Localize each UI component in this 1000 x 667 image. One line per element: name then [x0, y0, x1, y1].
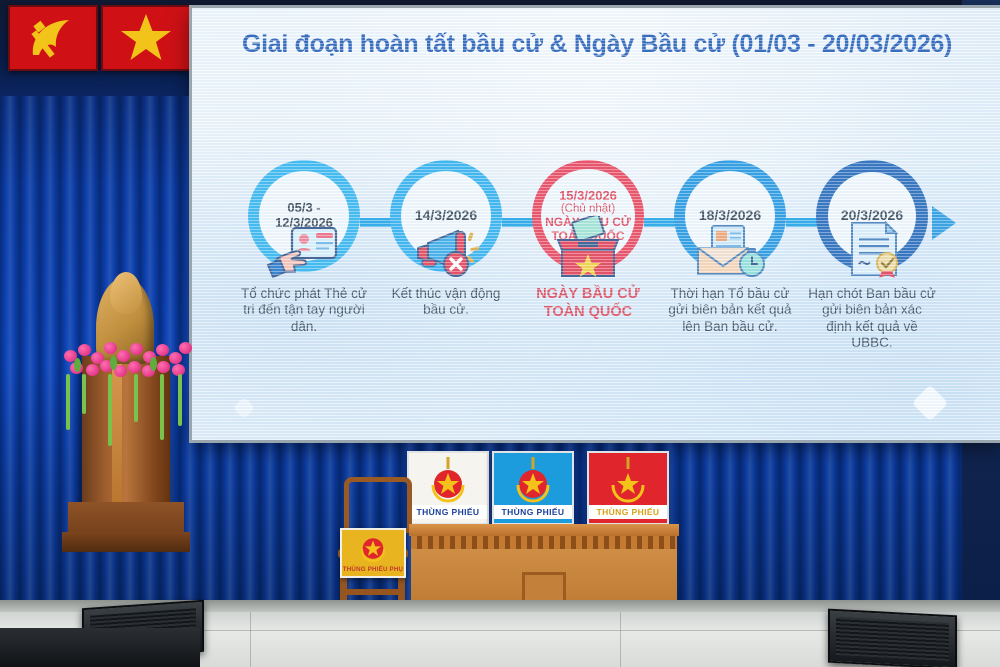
step-caption-5: Hạn chót Ban bầu cử gửi biên bản xác địn… — [808, 286, 936, 352]
bust-head — [110, 272, 142, 314]
speaker-grill — [836, 617, 949, 661]
timeline: 05/3 - 12/3/2026 14/3/2026 15/3/2026 (Ch… — [192, 86, 1000, 206]
yellow-star-icon — [119, 12, 173, 64]
national-emblem-icon — [608, 467, 648, 505]
step-caption-2: Kết thúc vận động bầu cử. — [382, 286, 510, 319]
communist-party-flag — [8, 5, 98, 71]
table-dentil-trim — [411, 536, 677, 549]
certificate-seal-icon — [808, 216, 936, 278]
step-caption-3: NGÀY BẦU CỬ TOÀN QUỐC — [524, 286, 652, 321]
flower-arrangement — [60, 336, 192, 380]
slide-title: Giai đoạn hoàn tất bầu cử & Ngày Bầu cử … — [192, 30, 1000, 59]
step-column-2: Kết thúc vận động bầu cử. — [382, 216, 510, 319]
national-emblem-icon — [358, 536, 388, 564]
envelope-stopwatch-icon — [666, 216, 794, 278]
step-column-4: Thời hạn Tổ bầu cử gửi biên bản kết quả … — [666, 216, 794, 335]
ballot-box-white[interactable]: THÙNG PHIẾU — [407, 451, 489, 525]
ballot-box-label-3: THÙNG PHIẾU — [589, 505, 667, 519]
national-emblem-icon — [513, 467, 553, 505]
podium-base-bottom — [62, 532, 190, 552]
photo-scene: Giai đoạn hoàn tất bầu cử & Ngày Bầu cử … — [0, 0, 1000, 667]
ballot-box-icon — [524, 216, 652, 278]
id-card-in-hand-icon — [240, 216, 368, 278]
foreground-dark-surface — [0, 628, 200, 667]
ballot-box-red[interactable]: THÙNG PHIẾU — [587, 451, 669, 525]
step-caption-1: Tổ chức phát Thẻ cử tri đến tận tay ngườ… — [240, 286, 368, 335]
right-stage-speaker — [828, 609, 957, 667]
ballot-box-label-2: THÙNG PHIẾU — [494, 505, 572, 519]
national-emblem-icon — [428, 467, 468, 505]
step-caption-4: Thời hạn Tổ bầu cử gửi biên bản kết quả … — [666, 286, 794, 335]
projection-screen: Giai đoạn hoàn tất bầu cử & Ngày Bầu cử … — [192, 8, 1000, 440]
megaphone-blocked-icon — [382, 216, 510, 278]
ballot-box-label-1: THÙNG PHIẾU — [409, 505, 487, 519]
step-column-3: NGÀY BẦU CỬ TOÀN QUỐC — [524, 216, 652, 321]
auxiliary-ballot-box[interactable]: THÙNG PHIẾU PHỤ — [340, 528, 406, 578]
ho-chi-minh-bust-podium — [60, 270, 192, 560]
chair-back — [344, 477, 412, 533]
auxiliary-ballot-box-label: THÙNG PHIẾU PHỤ — [343, 566, 403, 573]
chair-rail — [342, 589, 404, 595]
timeline-node-1-line1: 05/3 - — [275, 201, 333, 216]
step-column-1: Tổ chức phát Thẻ cử tri đến tận tay ngườ… — [240, 216, 368, 335]
hammer-and-sickle-icon — [25, 15, 81, 61]
timeline-node-3-line1: 15/3/2026 — [545, 189, 631, 204]
table-top — [409, 524, 679, 536]
step-column-5: Hạn chót Ban bầu cử gửi biên bản xác địn… — [808, 216, 936, 352]
ballot-box-blue[interactable]: THÙNG PHIẾU — [492, 451, 574, 525]
vietnam-national-flag — [101, 5, 191, 71]
